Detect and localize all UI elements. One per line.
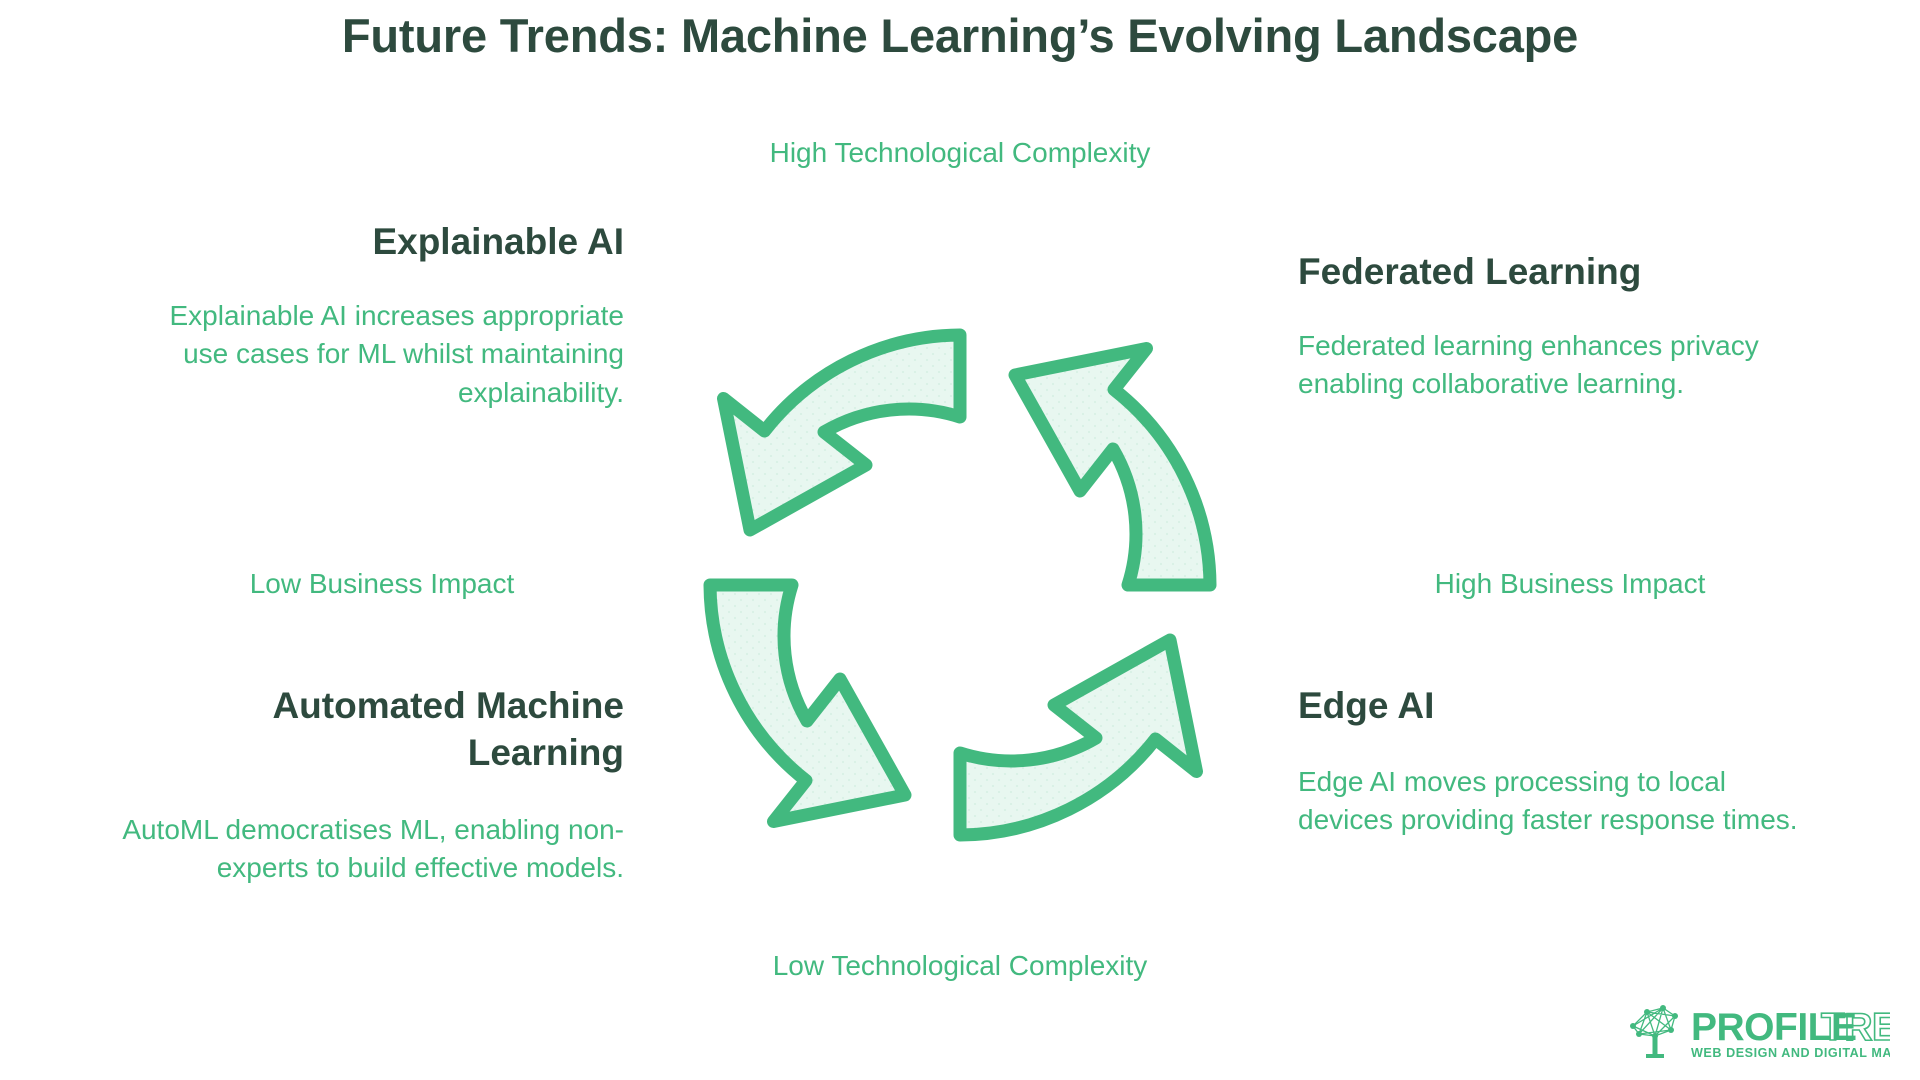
quadrant-heading-explainable-ai: Explainable AI: [120, 218, 624, 265]
quadrant-heading-automated-machine-learning: Automated Machine Learning: [120, 682, 624, 777]
tree-trunk-icon: [1646, 1035, 1664, 1058]
axis-label-top: High Technological Complexity: [760, 135, 1160, 171]
quadrant-body-automated-machine-learning: AutoML democratises ML, enabling non-exp…: [120, 811, 624, 887]
logo-tagline: WEB DESIGN AND DIGITAL MARKETING: [1691, 1046, 1890, 1060]
quadrant-heading-edge-ai: Edge AI: [1298, 682, 1818, 729]
cycle-arrow-segment-1: [724, 335, 961, 530]
axis-label-bottom: Low Technological Complexity: [760, 948, 1160, 984]
cycle-arrow-segment-2: [1015, 349, 1210, 586]
logo-wordmark-tree: TREE: [1821, 1006, 1890, 1049]
profiletree-logo: PROFILE TREE WEB DESIGN AND DIGITAL MARK…: [1625, 1002, 1890, 1064]
quadrant-automated-machine-learning: Automated Machine Learning AutoML democr…: [120, 682, 624, 887]
quadrant-heading-federated-learning: Federated Learning: [1298, 248, 1818, 295]
cycle-diagram: [660, 285, 1260, 885]
quadrant-body-edge-ai: Edge AI moves processing to local device…: [1298, 763, 1818, 839]
page-title: Future Trends: Machine Learning’s Evolvi…: [0, 8, 1920, 64]
quadrant-federated-learning: Federated Learning Federated learning en…: [1298, 248, 1818, 404]
cycle-arrow-segment-4: [710, 585, 905, 822]
quadrant-body-federated-learning: Federated learning enhances privacy enab…: [1298, 327, 1818, 403]
quadrant-explainable-ai: Explainable AI Explainable AI increases …: [120, 218, 624, 412]
quadrant-body-explainable-ai: Explainable AI increases appropriate use…: [120, 297, 624, 411]
quadrant-edge-ai: Edge AI Edge AI moves processing to loca…: [1298, 682, 1818, 840]
axis-label-left: Low Business Impact: [130, 566, 634, 602]
cycle-arrow-segment-3: [960, 640, 1197, 835]
axis-label-right: High Business Impact: [1330, 566, 1810, 602]
